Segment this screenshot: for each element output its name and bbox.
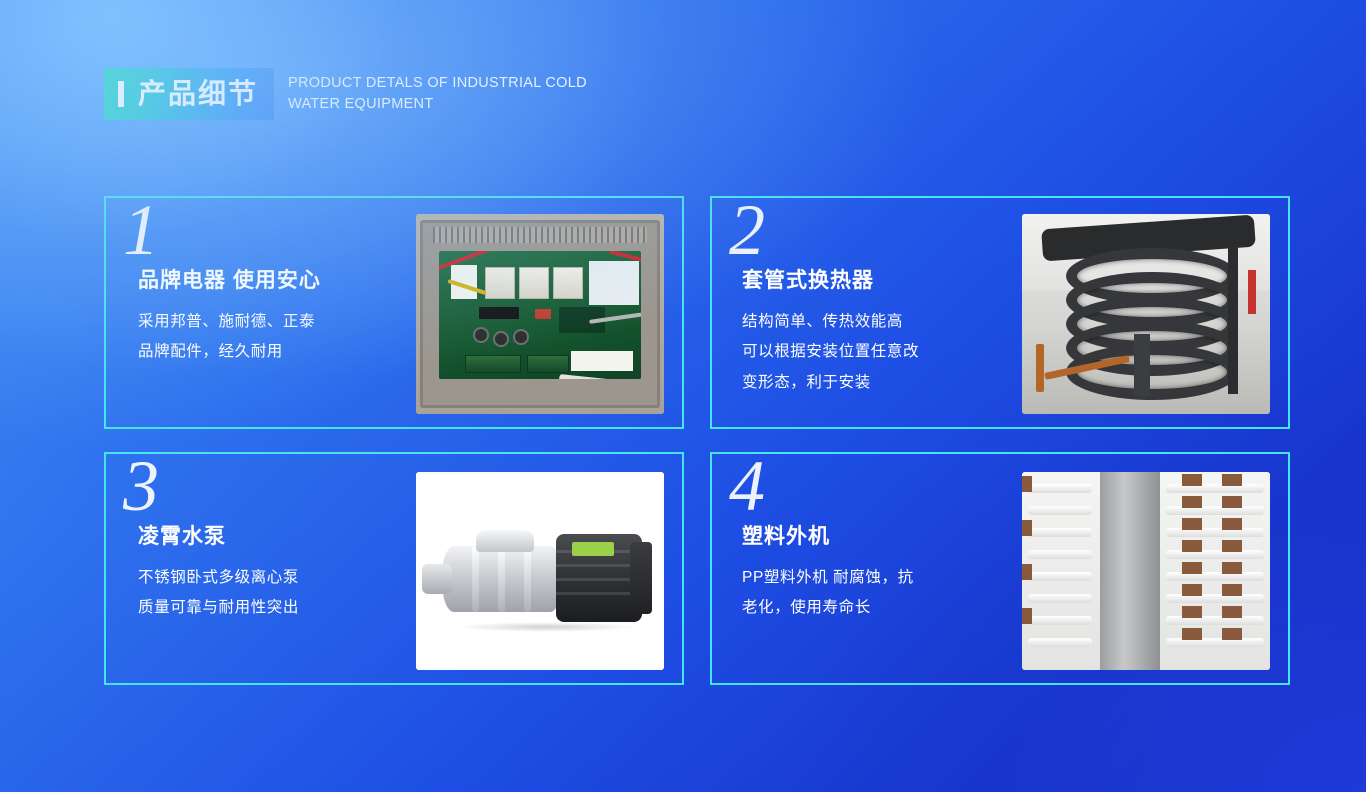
feature-card-grid: 1 品牌电器 使用安心 采用邦普、施耐德、正泰 品牌配件，经久耐用 <box>104 196 1290 685</box>
feature-card-1: 1 品牌电器 使用安心 采用邦普、施耐德、正泰 品牌配件，经久耐用 <box>104 196 684 429</box>
pcb-capacitor <box>493 331 509 347</box>
feature-card-2: 2 套管式换热器 结构简单、传热效能高 可以根据安装位置任意改 变形态，利于安装 <box>710 196 1290 429</box>
panel-gap-shadow <box>1222 606 1242 618</box>
card-text-block: 塑料外机 PP塑料外机 耐腐蚀，抗 老化，使用寿命长 <box>742 524 1032 624</box>
pcb-chip <box>479 307 519 319</box>
pcb-vents <box>433 227 647 243</box>
panel-gap-shadow <box>1222 540 1242 552</box>
card-description: 不锈钢卧式多级离心泵 质量可靠与耐用性突出 <box>138 563 428 623</box>
panel-slat <box>1166 616 1264 625</box>
pump-fan-cover <box>630 542 652 614</box>
panel-gap-shadow <box>1182 496 1202 508</box>
card-text-block: 凌霄水泵 不锈钢卧式多级离心泵 质量可靠与耐用性突出 <box>138 524 428 624</box>
pump-band <box>524 546 531 612</box>
stainless-water-pump-photo <box>416 472 664 670</box>
feature-card-4: 4 塑料外机 PP塑料外机 耐腐蚀，抗 老化，使用寿命长 <box>710 452 1290 685</box>
panel-slat <box>1166 638 1264 647</box>
panel-slat <box>1028 616 1092 625</box>
plastic-outer-unit-photo <box>1022 472 1270 670</box>
panel-slat <box>1166 528 1264 537</box>
card-description: 结构简单、传热效能高 可以根据安装位置任意改 变形态，利于安装 <box>742 307 1032 398</box>
coil-ring <box>1066 344 1238 400</box>
panel-slat <box>1166 572 1264 581</box>
card-number: 3 <box>123 452 159 522</box>
panel-gap-shadow <box>1182 474 1202 486</box>
card-title: 凌霄水泵 <box>138 524 428 549</box>
panel-gap-shadow <box>1022 520 1032 536</box>
panel-gap-shadow <box>1222 628 1242 640</box>
pcb-illustration <box>416 214 664 414</box>
feature-card-3: 3 凌霄水泵 不锈钢卧式多级离心泵 质量可靠与耐用性突出 <box>104 452 684 685</box>
panel-slat <box>1166 484 1264 493</box>
card-desc-line: 老化，使用寿命长 <box>742 593 1032 623</box>
panel-gap-shadow <box>1022 564 1032 580</box>
page-title: 产品细节 <box>138 80 258 108</box>
plastic-left-panel <box>1022 472 1100 670</box>
panel-gap-shadow <box>1222 518 1242 530</box>
panel-gap-shadow <box>1022 608 1032 624</box>
card-desc-line: PP塑料外机 耐腐蚀，抗 <box>742 563 1032 593</box>
card-desc-line: 质量可靠与耐用性突出 <box>138 593 428 623</box>
pcb-terminal-block <box>465 355 521 373</box>
card-desc-line: 品牌配件，经久耐用 <box>138 337 428 367</box>
pcb-ribbon-cable <box>559 374 641 379</box>
panel-slat <box>1166 594 1264 603</box>
pcb-capacitor <box>473 327 489 343</box>
card-number: 1 <box>123 196 159 266</box>
pump-illustration <box>416 472 664 670</box>
panel-gap-shadow <box>1222 474 1242 486</box>
card-title: 塑料外机 <box>742 524 1032 549</box>
panel-gap-shadow <box>1182 584 1202 596</box>
panel-gap-shadow <box>1222 584 1242 596</box>
pump-band <box>472 546 479 612</box>
pcb-capacitor <box>513 329 529 345</box>
pcb-relay <box>519 267 549 299</box>
pcb-metal-case <box>420 220 660 408</box>
pcb-connector <box>571 351 633 371</box>
pump-band <box>498 546 505 612</box>
coil-red-wire <box>1248 270 1256 314</box>
card-text-block: 套管式换热器 结构简单、传热效能高 可以根据安装位置任意改 变形态，利于安装 <box>742 268 1032 398</box>
card-text-block: 品牌电器 使用安心 采用邦普、施耐德、正泰 品牌配件，经久耐用 <box>138 268 428 368</box>
card-title: 品牌电器 使用安心 <box>138 268 428 293</box>
plastic-center-column <box>1100 472 1160 670</box>
page-subtitle: PRODUCT DETALS OF INDUSTRIAL COLD WATER … <box>288 73 608 115</box>
card-description: 采用邦普、施耐德、正泰 品牌配件，经久耐用 <box>138 307 428 367</box>
coil-illustration <box>1022 214 1270 414</box>
panel-gap-shadow <box>1182 562 1202 574</box>
pcb-terminal-block <box>527 355 569 373</box>
coil-side-pipe <box>1228 244 1238 394</box>
panel-gap-shadow <box>1182 518 1202 530</box>
panel-gap-shadow <box>1182 540 1202 552</box>
pump-shadow <box>456 622 636 632</box>
panel-slat <box>1166 506 1264 515</box>
card-desc-line: 变形态，利于安装 <box>742 368 1032 398</box>
panel-slat <box>1028 484 1092 493</box>
pump-top-cover <box>476 530 534 552</box>
coil-copper-tube <box>1036 344 1044 392</box>
pcb-sticker <box>589 261 639 305</box>
panel-gap-shadow <box>1182 606 1202 618</box>
pump-inlet-port <box>422 564 452 594</box>
panel-gap-shadow <box>1022 476 1032 492</box>
plastic-unit-illustration <box>1022 472 1270 670</box>
panel-slat <box>1028 572 1092 581</box>
pcb-switch <box>535 309 551 319</box>
title-accent-bar <box>118 81 124 107</box>
panel-slat <box>1028 506 1092 515</box>
pcb-relay <box>485 267 515 299</box>
card-number: 4 <box>729 452 765 522</box>
panel-slat <box>1028 638 1092 647</box>
panel-slat <box>1028 550 1092 559</box>
card-number: 2 <box>729 196 765 266</box>
card-description: PP塑料外机 耐腐蚀，抗 老化，使用寿命长 <box>742 563 1032 623</box>
control-board-photo <box>416 214 664 414</box>
card-desc-line: 不锈钢卧式多级离心泵 <box>138 563 428 593</box>
panel-gap-shadow <box>1222 562 1242 574</box>
coil-strap <box>1134 334 1150 396</box>
product-details-poster: 产品细节 PRODUCT DETALS OF INDUSTRIAL COLD W… <box>0 0 1366 792</box>
section-title-chip: 产品细节 <box>104 68 274 120</box>
card-desc-line: 采用邦普、施耐德、正泰 <box>138 307 428 337</box>
motor-green-label <box>572 542 614 556</box>
section-header: 产品细节 PRODUCT DETALS OF INDUSTRIAL COLD W… <box>104 68 608 120</box>
card-title: 套管式换热器 <box>742 268 1032 293</box>
panel-gap-shadow <box>1222 496 1242 508</box>
coil-heat-exchanger-photo <box>1022 214 1270 414</box>
pcb-green-board <box>439 251 641 379</box>
card-desc-line: 可以根据安装位置任意改 <box>742 337 1032 367</box>
card-desc-line: 结构简单、传热效能高 <box>742 307 1032 337</box>
panel-slat <box>1028 528 1092 537</box>
pcb-relay <box>553 267 583 299</box>
panel-slat <box>1166 550 1264 559</box>
plastic-right-panel <box>1160 472 1270 670</box>
panel-slat <box>1028 594 1092 603</box>
panel-gap-shadow <box>1182 628 1202 640</box>
